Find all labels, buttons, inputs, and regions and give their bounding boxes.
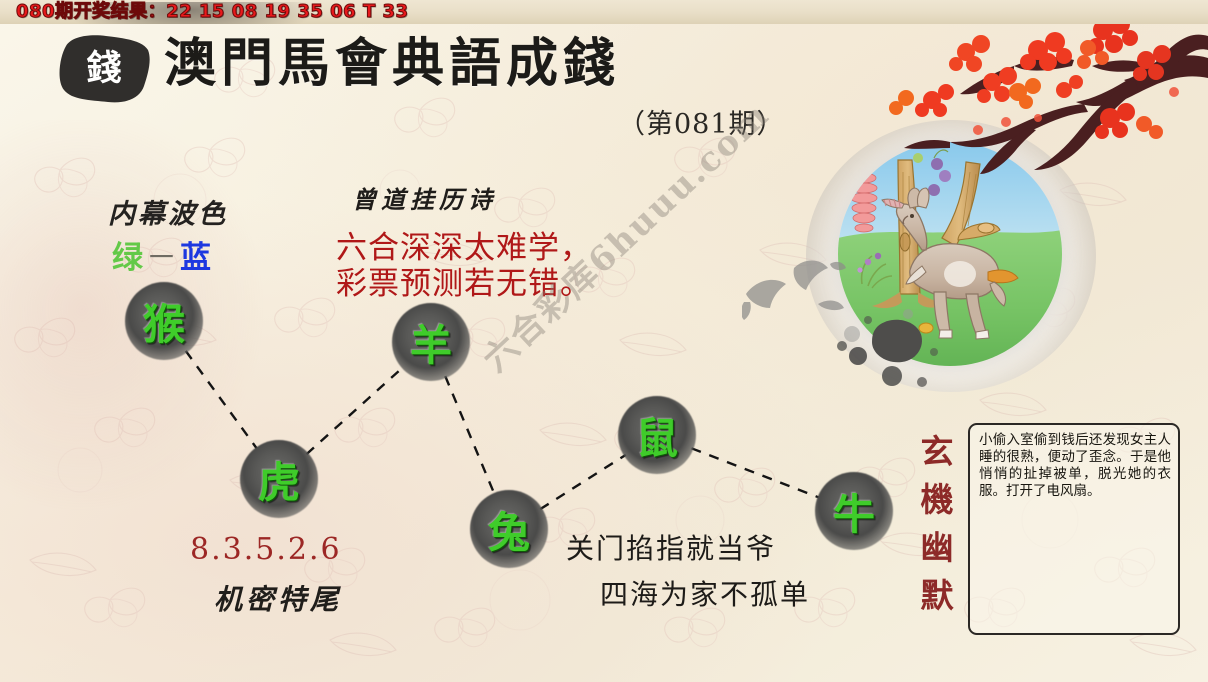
zodiac-node-猴[interactable]: 猴	[125, 282, 203, 360]
zodiac-node-牛[interactable]: 牛	[815, 472, 893, 550]
poem-line-2: 彩票预测若无错。	[336, 258, 592, 303]
vertical-title-char-1: 機	[914, 476, 960, 524]
couplet-line-2: 四海为家不孤单	[600, 573, 810, 613]
vertical-title-char-3: 默	[914, 572, 960, 620]
page-title: 澳門馬會典語成錢	[164, 33, 620, 95]
joke-text: 小偷入室偷到钱后还发现女主人睡的很熟，便动了歪念。于是他悄悄的扯掉被单，脱光她的…	[979, 432, 1171, 500]
joke-text-box: 小偷入室偷到钱后还发现女主人睡的很熟，便动了歪念。于是他悄悄的扯掉被单，脱光她的…	[968, 423, 1180, 635]
secret-tail-label: 机密特尾	[214, 578, 342, 618]
vertical-section-title: 玄機幽默	[914, 428, 960, 620]
plum-blossom-branch-icon	[888, 0, 1208, 175]
inside-color-green: 绿	[112, 240, 144, 276]
poem-heading: 曾道挂历诗	[352, 180, 497, 215]
couplet-line-1: 关门掐指就当爷	[566, 527, 776, 567]
vertical-title-char-2: 幽	[914, 524, 960, 572]
vertical-title-char-0: 玄	[914, 428, 960, 476]
zodiac-character: 猴	[125, 282, 203, 360]
zodiac-node-羊[interactable]: 羊	[392, 303, 470, 381]
zodiac-character: 牛	[815, 472, 893, 550]
inside-color-label: 内幕波色	[108, 192, 228, 231]
zodiac-node-虎[interactable]: 虎	[240, 440, 318, 518]
zodiac-character: 虎	[240, 440, 318, 518]
issue-number: （第081期）	[618, 102, 785, 141]
zodiac-node-兔[interactable]: 兔	[470, 490, 548, 568]
zodiac-character: 兔	[470, 490, 548, 568]
seal-character: 錢	[56, 34, 152, 104]
zodiac-character: 羊	[392, 303, 470, 381]
inside-color-blue: 蓝	[180, 240, 212, 276]
zodiac-character: 鼠	[618, 396, 696, 474]
inside-color-values: 绿－蓝	[112, 232, 212, 277]
ink-splatter-decoration	[830, 300, 960, 390]
lottery-result-bar: 080期开奖结果：22 15 08 19 35 06 T 33	[0, 0, 1208, 24]
inside-color-separator: －	[144, 240, 180, 276]
zodiac-node-鼠[interactable]: 鼠	[618, 396, 696, 474]
lottery-result-text: 080期开奖结果：22 15 08 19 35 06 T 33	[16, 0, 409, 24]
poster-root: 080期开奖结果：22 15 08 19 35 06 T 33	[0, 0, 1208, 682]
secret-tail-numbers: 8.3.5.2.6	[190, 532, 342, 567]
